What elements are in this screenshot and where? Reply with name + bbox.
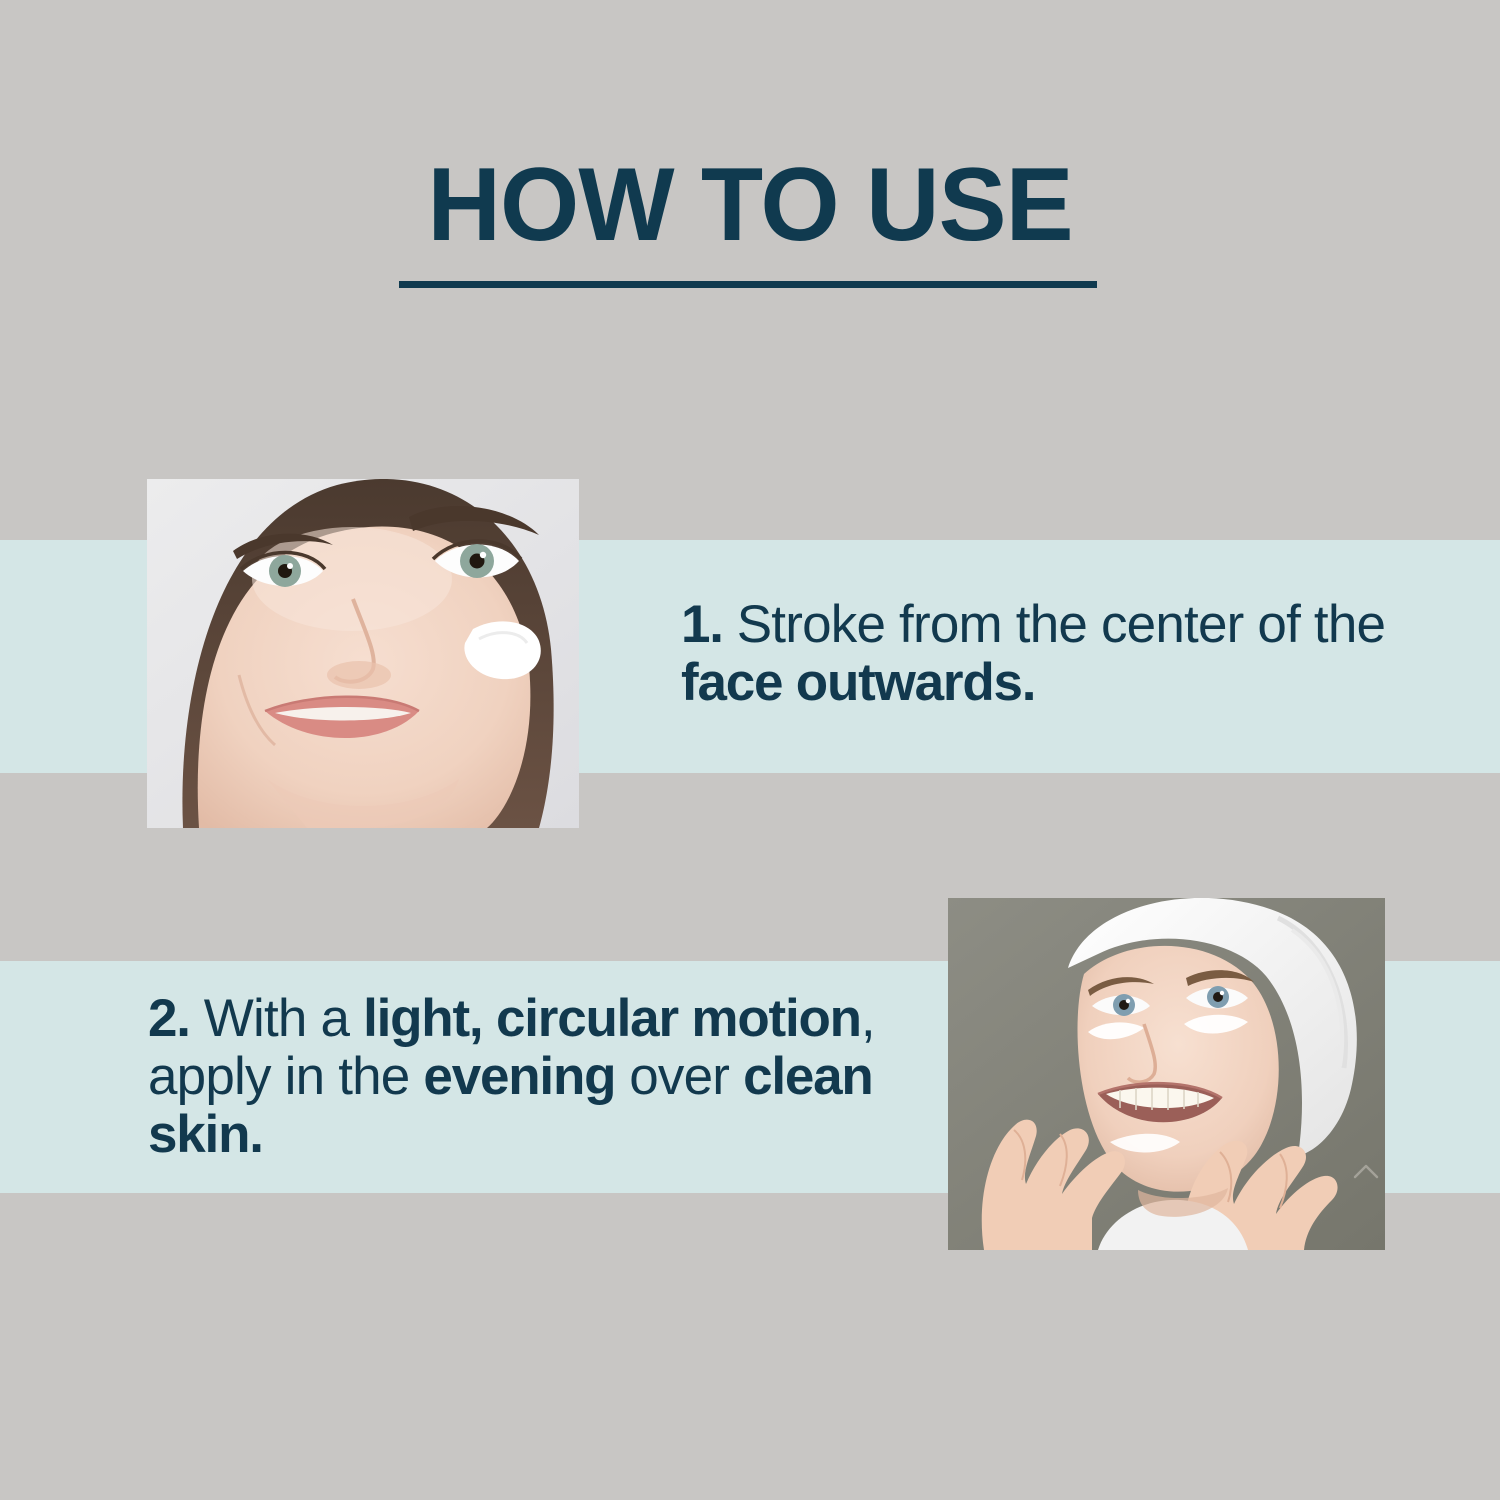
step-2-part-2: light, circular motion (363, 989, 861, 1048)
step-1-text: 1. Stroke from the center of the face ou… (681, 596, 1411, 712)
step-2-number: 2. (148, 989, 190, 1048)
steps-layer: 1. Stroke from the center of the face ou… (0, 0, 1500, 1500)
step-2-part-4: evening (423, 1047, 615, 1106)
step-1-number: 1. (681, 595, 723, 654)
step-1-part-2: face outwards. (681, 653, 1035, 712)
step-2-part-5: over (615, 1047, 743, 1106)
step-2-part-1: With a (204, 989, 363, 1048)
step-2-text: 2. With a light, circular motion, apply … (148, 990, 938, 1164)
step-1-part-1: Stroke from the center of the (737, 595, 1385, 654)
how-to-use-infographic: HOW TO USE (0, 0, 1500, 1500)
